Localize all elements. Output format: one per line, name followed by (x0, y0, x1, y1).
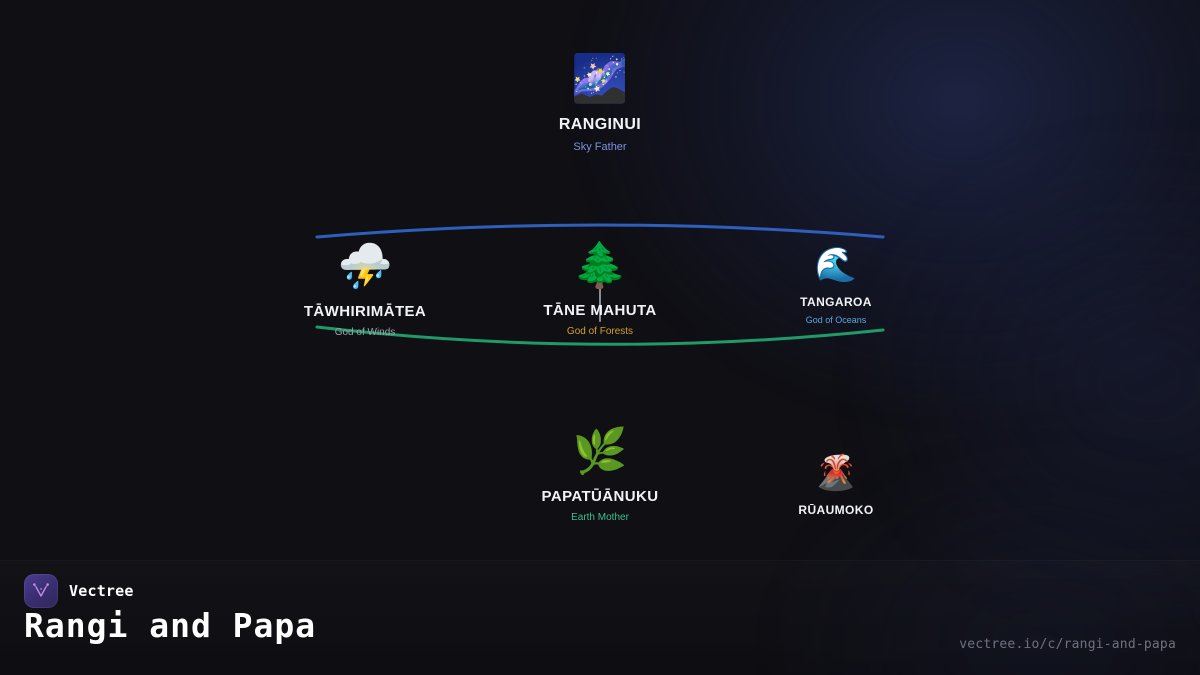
graph-node-tawhirimatea[interactable]: ⛈️TĀWHIRIMĀTEAGod of Winds (255, 245, 475, 338)
node-title: RANGINUI (559, 116, 641, 134)
evergreen-tree-icon: 🌲 (573, 244, 628, 288)
node-subtitle: Sky Father (573, 141, 626, 153)
graph-canvas[interactable]: 🌌RANGINUISky Father⛈️TĀWHIRIMĀTEAGod of … (0, 0, 1200, 560)
graph-node-tane-mahuta[interactable]: 🌲TĀNE MAHUTAGod of Forests (490, 244, 710, 337)
herb-leaf-icon: 🌿 (573, 430, 628, 474)
sky-arc-edge (317, 225, 883, 237)
node-subtitle: God of Winds (335, 327, 396, 338)
node-title: PAPATŪĀNUKU (542, 488, 659, 505)
node-title: TANGAROA (800, 295, 872, 309)
node-title: TĀNE MAHUTA (543, 302, 656, 319)
graph-node-ruaumoko[interactable]: 🌋RŪAUMOKO (726, 456, 946, 517)
page-title: Rangi and Papa (24, 606, 316, 645)
brand-name: Vectree (69, 582, 134, 600)
milky-way-icon: 🌌 (571, 55, 628, 101)
vectree-logo-glyph (31, 581, 51, 601)
graph-node-ranginui[interactable]: 🌌RANGINUISky Father (490, 55, 710, 153)
graph-node-tangaroa[interactable]: 🌊TANGAROAGod of Oceans (726, 248, 946, 325)
brand-row[interactable]: Vectree (24, 574, 134, 608)
node-title: TĀWHIRIMĀTEA (304, 303, 426, 320)
thunder-cloud-rain-icon: ⛈️ (338, 245, 393, 289)
volcano-icon: 🌋 (815, 456, 857, 490)
node-title: RŪAUMOKO (798, 503, 873, 517)
footer-url: vectree.io/c/rangi-and-papa (959, 637, 1176, 652)
vectree-logo (24, 574, 58, 608)
node-subtitle: Earth Mother (571, 512, 629, 523)
node-subtitle: God of Oceans (806, 315, 867, 325)
graph-node-papatuanuku[interactable]: 🌿PAPATŪĀNUKUEarth Mother (490, 430, 710, 523)
ocean-wave-icon: 🌊 (815, 248, 857, 282)
footer-bar: Vectree Rangi and Papa vectree.io/c/rang… (0, 560, 1200, 675)
node-subtitle: God of Forests (567, 326, 633, 337)
